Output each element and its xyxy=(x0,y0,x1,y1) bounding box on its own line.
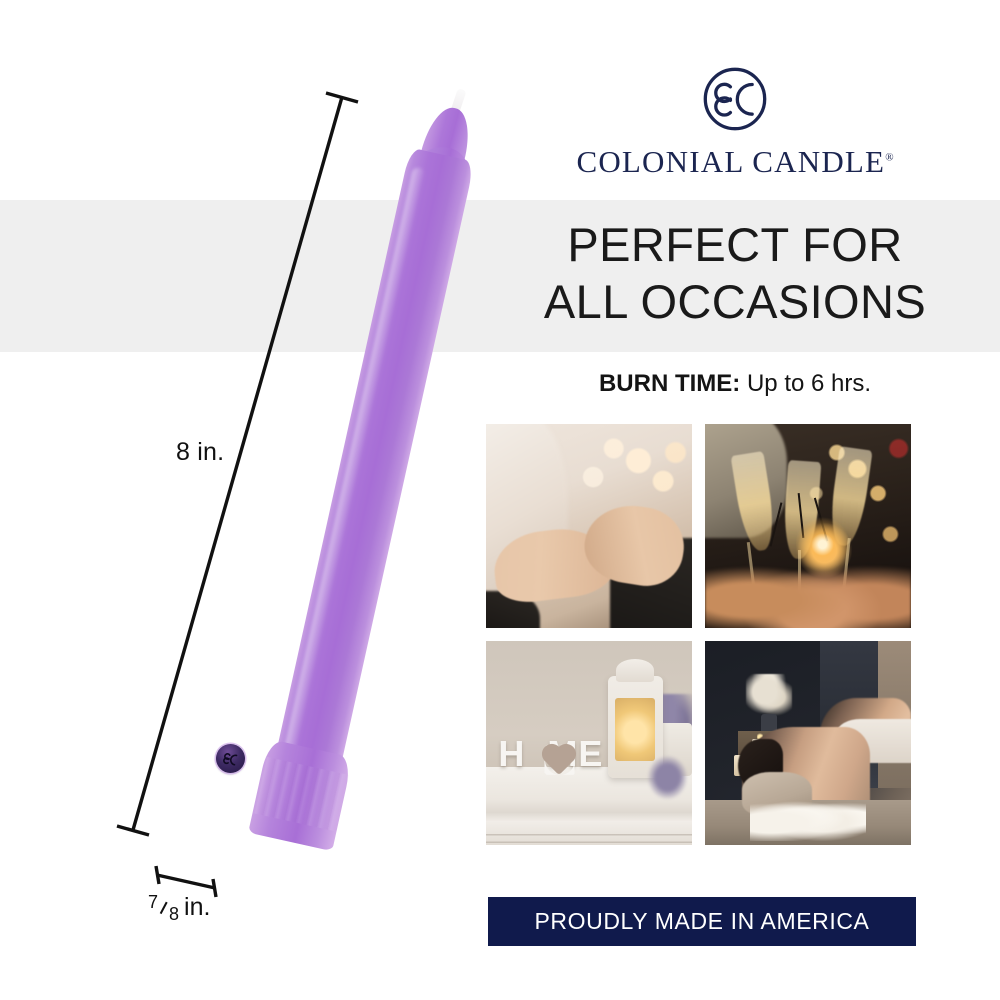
photo-spa-couple-candles xyxy=(705,641,911,845)
burn-time-statement: BURN TIME: Up to 6 hrs. xyxy=(470,370,1000,398)
width-dimension-label: 7 8 in. xyxy=(148,893,210,922)
photo-home-sign-lantern: H ME xyxy=(486,641,692,845)
lantern-glow xyxy=(615,698,655,761)
lantern-top xyxy=(616,659,654,681)
width-unit: in. xyxy=(184,893,210,922)
photo-wedding-ring-exchange xyxy=(486,424,692,628)
made-in-america-text: PROUDLY MADE IN AMERICA xyxy=(534,908,869,935)
shelf-planks xyxy=(486,828,692,844)
burn-time-label: BURN TIME: xyxy=(599,370,740,397)
fraction-numerator: 7 xyxy=(148,893,158,911)
brand-logo: COLONIAL CANDLE® xyxy=(470,66,1000,180)
page-headline: PERFECT FOR ALL OCCASIONS xyxy=(470,216,1000,331)
marketing-pane: COLONIAL CANDLE® PERFECT FOR ALL OCCASIO… xyxy=(470,0,1000,1000)
fraction-bar xyxy=(160,901,168,913)
headline-line-1: PERFECT FOR xyxy=(567,218,902,271)
photo-champagne-toast-sparklers xyxy=(705,424,911,628)
wall-flowers xyxy=(746,674,791,719)
white-orchids xyxy=(750,796,865,841)
guest-hands xyxy=(705,546,911,628)
brand-wordmark: COLONIAL CANDLE® xyxy=(576,144,893,180)
candle-base-ridges xyxy=(252,756,349,831)
candle-taper xyxy=(255,106,488,846)
candle-illustration xyxy=(104,86,444,866)
candle-base xyxy=(248,739,353,851)
fraction-denominator: 8 xyxy=(169,905,179,923)
brand-name: COLONIAL CANDLE xyxy=(576,144,885,179)
width-fraction: 7 8 xyxy=(148,899,179,917)
height-dimension-label: 8 in. xyxy=(176,438,224,467)
cc-monogram-icon xyxy=(702,66,768,132)
made-in-america-banner: PROUDLY MADE IN AMERICA xyxy=(488,897,916,946)
lifestyle-photo-grid: H ME xyxy=(486,424,916,845)
lavender-bunch xyxy=(647,755,688,800)
headline-line-2: ALL OCCASIONS xyxy=(470,273,1000,330)
burn-time-value: Up to 6 hrs. xyxy=(747,370,871,397)
registered-mark: ® xyxy=(885,152,893,164)
product-image-pane: 8 in. 7 8 in. xyxy=(0,0,470,1000)
